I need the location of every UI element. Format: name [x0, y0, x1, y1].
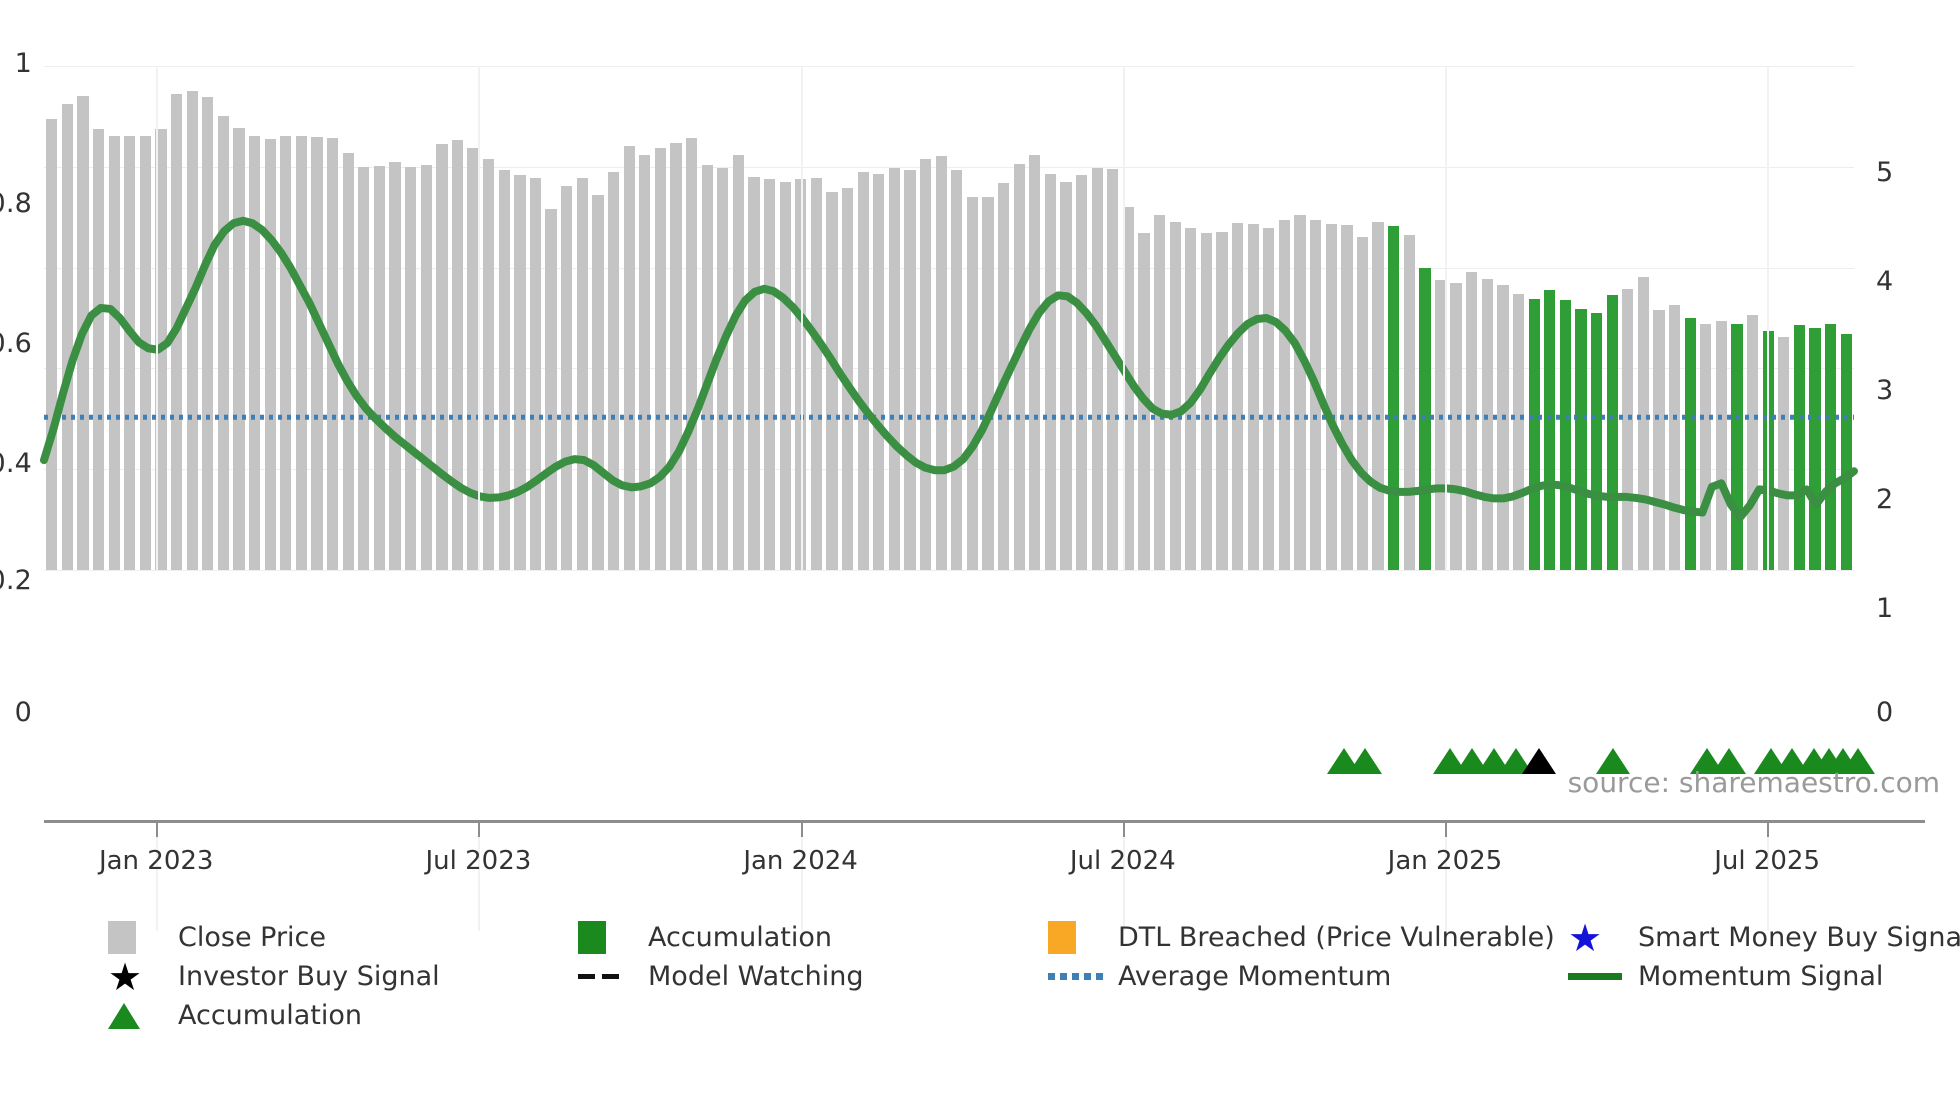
- average-momentum-dotted-line-icon: [1048, 973, 1103, 980]
- x-axis-tick: [478, 823, 480, 837]
- y-axis-left-tick-02: 0.2: [0, 565, 32, 596]
- average-momentum-key: [1048, 973, 1104, 980]
- plot-area: [44, 66, 1854, 570]
- x-gridline-lower: [801, 823, 803, 931]
- legend-item-smart-money-buy[interactable]: ★Smart Money Buy Signal: [1568, 918, 1908, 957]
- y-axis-right-tick-0: 0: [1876, 697, 1893, 728]
- smart-money-buy-key: ★: [1568, 924, 1624, 952]
- investor-buy-star-icon: ★: [108, 963, 142, 991]
- y-axis-right-tick-1: 1: [1876, 593, 1893, 624]
- x-axis-label: Jan 2025: [1388, 846, 1503, 876]
- x-gridline: [1123, 66, 1125, 570]
- x-axis-label: Jul 2024: [1070, 846, 1176, 876]
- x-gridline-lower: [1767, 823, 1769, 931]
- momentum-signal-key: [1568, 973, 1624, 980]
- y-axis-left-tick-06: 0.6: [0, 328, 32, 359]
- smart-money-buy-star-icon: ★: [1568, 924, 1602, 952]
- y-axis-right-tick-2: 2: [1876, 484, 1893, 515]
- legend-label: Smart Money Buy Signal: [1638, 922, 1960, 953]
- accumulation-bar-swatch-icon: [578, 921, 606, 954]
- accumulation-marker-triangle-icon: [108, 1003, 140, 1029]
- x-gridline: [1445, 66, 1447, 570]
- investor-buy-key: ★: [108, 963, 164, 991]
- x-axis-label: Jul 2023: [425, 846, 531, 876]
- stock-momentum-chart: 1 0.8 0.6 0.4 0.2 0 5 4 3 2 1 0 Jan 2023…: [0, 0, 1960, 1102]
- x-gridline-lower: [478, 823, 480, 931]
- y-axis-right-tick-3: 3: [1876, 375, 1893, 406]
- x-gridline-lower: [1445, 823, 1447, 931]
- y-axis-left-tick-08: 0.8: [0, 188, 32, 219]
- legend-item-model-watching[interactable]: Model Watching: [578, 957, 1048, 996]
- legend-item-accumulation-marker[interactable]: Accumulation: [108, 996, 578, 1035]
- legend-label: DTL Breached (Price Vulnerable): [1118, 922, 1555, 953]
- momentum-signal-line: [44, 66, 1854, 570]
- x-gridline-lower: [156, 823, 158, 931]
- accumulation-bar-key: [578, 921, 634, 954]
- legend-label: Accumulation: [648, 922, 832, 953]
- model-watching-key: [578, 974, 634, 979]
- legend-item-accumulation-bar[interactable]: Accumulation: [578, 918, 1048, 957]
- y-axis-left-tick-1: 1: [0, 48, 32, 79]
- x-axis-tick: [801, 823, 803, 837]
- legend-item-close-price[interactable]: Close Price: [108, 918, 578, 957]
- x-gridline: [1767, 66, 1769, 570]
- source-note: source: sharemaestro.com: [1568, 766, 1940, 799]
- dtl-breached-key: [1048, 921, 1104, 954]
- x-axis-label: Jul 2025: [1714, 846, 1820, 876]
- accumulation-marker-icon: [1348, 748, 1382, 774]
- model-watching-dashed-line-icon: [578, 974, 619, 979]
- legend-item-momentum-signal[interactable]: Momentum Signal: [1568, 957, 1908, 996]
- legend-label: Close Price: [178, 922, 326, 953]
- x-axis-tick: [1123, 823, 1125, 837]
- x-axis-tick: [156, 823, 158, 837]
- legend-label: Investor Buy Signal: [178, 961, 440, 992]
- x-axis-label: Jan 2023: [99, 846, 214, 876]
- accumulation-marker-key: [108, 1003, 164, 1029]
- close-price-swatch-icon: [108, 921, 136, 954]
- x-gridline-lower: [1123, 823, 1125, 931]
- y-axis-right-tick-5: 5: [1876, 157, 1893, 188]
- x-axis-line: [44, 820, 1925, 823]
- x-axis-tick: [1767, 823, 1769, 837]
- x-gridline: [801, 66, 803, 570]
- y-axis-right-tick-4: 4: [1876, 266, 1893, 297]
- investor-buy-marker-icon: [1522, 748, 1556, 774]
- dtl-breached-swatch-icon: [1048, 921, 1076, 954]
- legend-label: Average Momentum: [1118, 961, 1391, 992]
- x-gridline: [156, 66, 158, 570]
- y-axis-left-tick-0: 0: [0, 697, 32, 728]
- legend-label: Model Watching: [648, 961, 863, 992]
- x-gridline: [478, 66, 480, 570]
- legend-item-investor-buy[interactable]: ★Investor Buy Signal: [108, 957, 578, 996]
- legend-label: Accumulation: [178, 1000, 362, 1031]
- gridline: [44, 570, 1854, 571]
- legend-item-average-momentum[interactable]: Average Momentum: [1048, 957, 1568, 996]
- chart-legend: Close PriceAccumulationDTL Breached (Pri…: [108, 918, 1908, 1035]
- legend-label: Momentum Signal: [1638, 961, 1883, 992]
- legend-item-dtl-breached[interactable]: DTL Breached (Price Vulnerable): [1048, 918, 1568, 957]
- momentum-signal-line-icon: [1568, 973, 1622, 980]
- close-price-key: [108, 921, 164, 954]
- x-axis-tick: [1445, 823, 1447, 837]
- x-axis-label: Jan 2024: [743, 846, 858, 876]
- y-axis-left-tick-04: 0.4: [0, 448, 32, 479]
